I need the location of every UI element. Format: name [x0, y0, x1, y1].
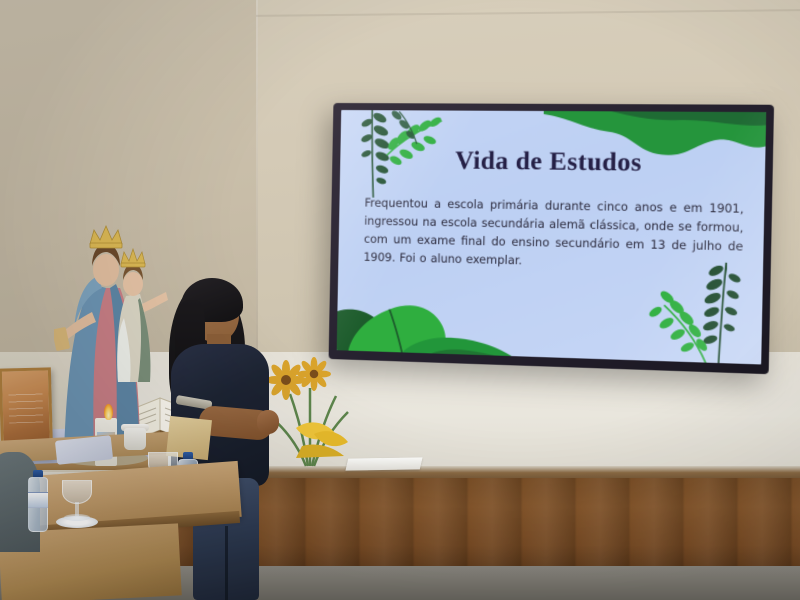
water-bottle: [28, 470, 48, 532]
presentation-slide: Vida de Estudos Frequentou a escola prim…: [337, 110, 767, 364]
tv-screen: Vida de Estudos Frequentou a escola prim…: [337, 110, 767, 364]
slide-title: Vida de Estudos: [340, 146, 765, 179]
presenter-leg-split: [225, 526, 228, 600]
bottle-label: [28, 492, 48, 508]
glass-foot: [64, 514, 90, 521]
candle-flame-icon: [104, 404, 113, 420]
coffee-cup: [124, 428, 146, 450]
slide-body-text: Frequentou a escola primária durante cin…: [363, 194, 744, 275]
wine-glass: [62, 480, 92, 522]
room-scene: Vida de Estudos Frequentou a escola prim…: [0, 0, 800, 600]
glass-bowl: [62, 480, 92, 504]
presenter-hand: [257, 410, 279, 434]
wall-mounted-tv[interactable]: Vida de Estudos Frequentou a escola prim…: [329, 103, 774, 374]
